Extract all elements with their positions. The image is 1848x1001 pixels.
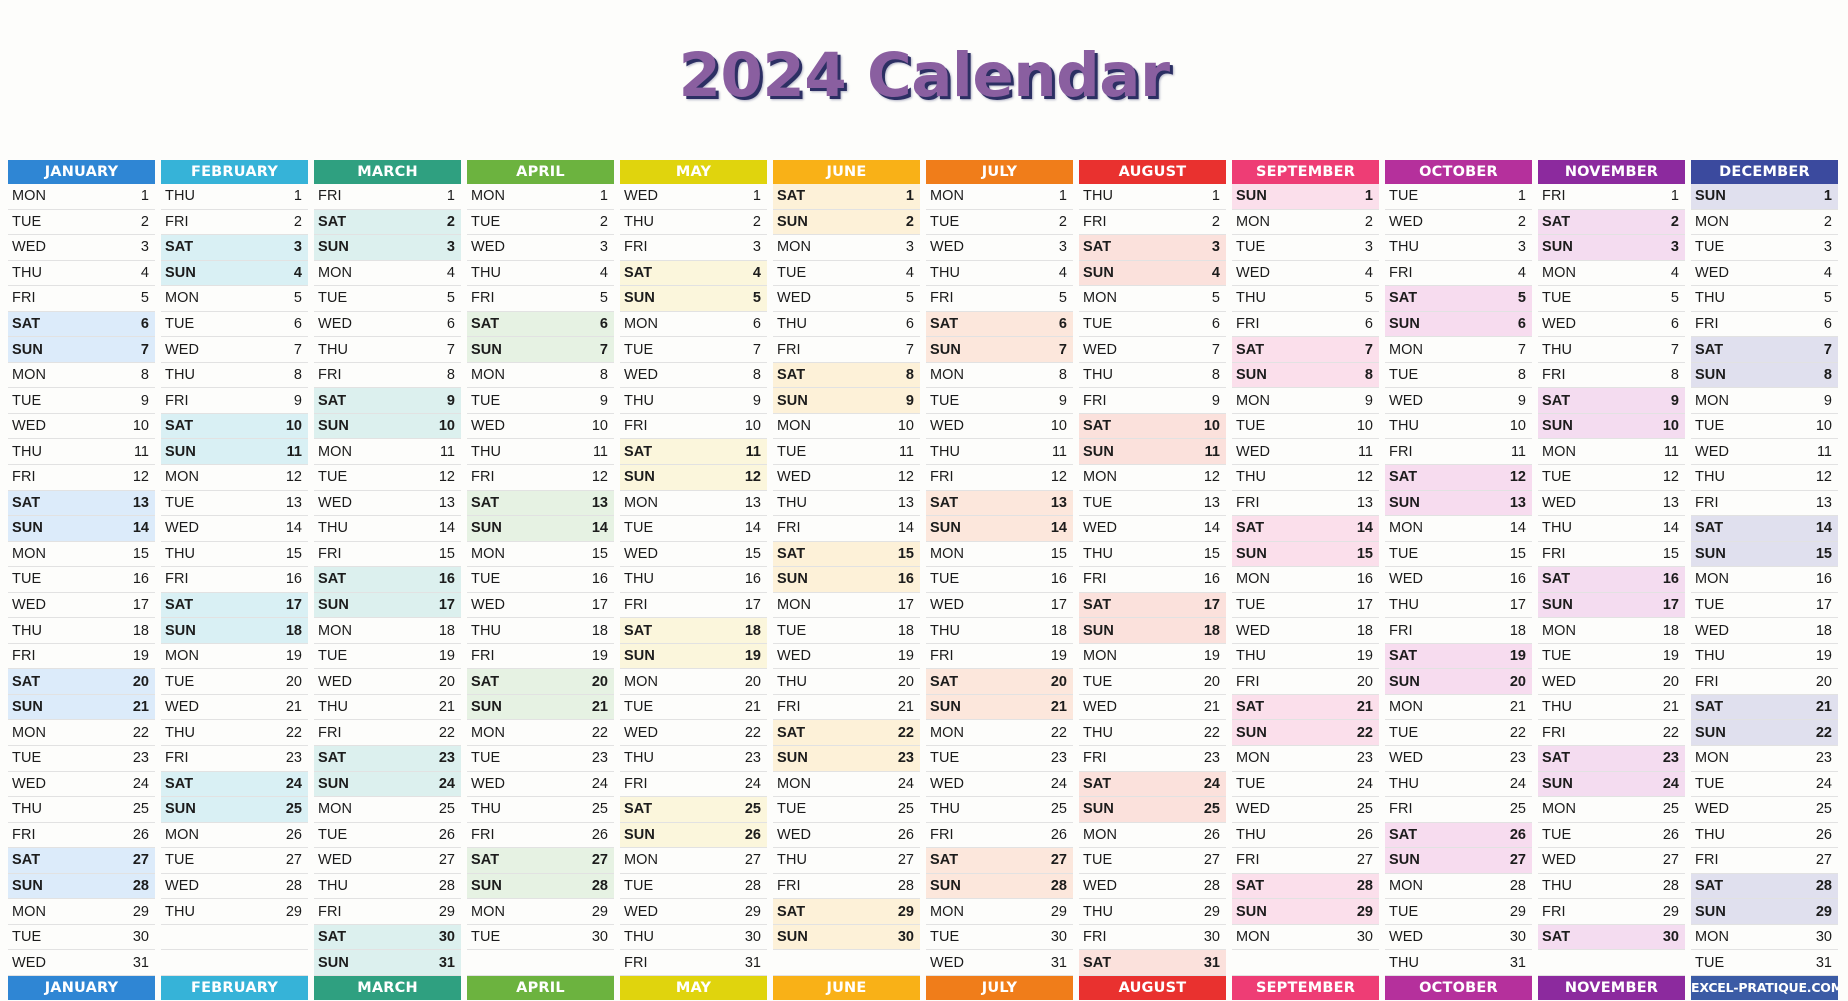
day-cell[interactable]: SUN28 [926, 874, 1073, 900]
day-cell[interactable]: SAT27 [926, 848, 1073, 874]
day-cell[interactable]: FRI15 [314, 542, 461, 568]
day-cell[interactable]: MON16 [1232, 567, 1379, 593]
day-cell[interactable]: FRI23 [161, 746, 308, 772]
month-footer-january[interactable]: JANUARY [8, 976, 155, 1000]
day-cell[interactable]: THU16 [620, 567, 767, 593]
day-cell[interactable]: SUN22 [1691, 720, 1838, 746]
day-cell[interactable]: SUN2 [773, 210, 920, 236]
day-cell[interactable]: SAT24 [161, 772, 308, 798]
day-cell[interactable]: FRI9 [1079, 388, 1226, 414]
day-cell[interactable]: WED24 [926, 772, 1073, 798]
day-cell[interactable]: TUE3 [1691, 235, 1838, 261]
day-cell[interactable]: TUE13 [1079, 491, 1226, 517]
day-cell[interactable]: FRI27 [1232, 848, 1379, 874]
day-cell[interactable]: WED26 [773, 823, 920, 849]
day-cell[interactable]: THU29 [1079, 899, 1226, 925]
day-cell[interactable]: MON28 [1385, 874, 1532, 900]
day-cell[interactable]: THU11 [926, 439, 1073, 465]
day-cell[interactable]: MON22 [926, 720, 1073, 746]
day-cell[interactable]: WED20 [1538, 669, 1685, 695]
day-cell[interactable]: WED5 [773, 286, 920, 312]
day-cell[interactable]: FRI8 [1538, 363, 1685, 389]
day-cell[interactable]: WED1 [620, 184, 767, 210]
day-cell[interactable]: THU28 [1538, 874, 1685, 900]
day-cell[interactable]: MON14 [1385, 516, 1532, 542]
day-cell[interactable]: WED25 [1691, 797, 1838, 823]
day-cell[interactable]: THU14 [1538, 516, 1685, 542]
day-cell[interactable]: MON30 [1691, 925, 1838, 951]
day-cell[interactable]: SUN22 [1232, 720, 1379, 746]
day-cell[interactable]: FRI21 [773, 695, 920, 721]
day-cell[interactable]: MON25 [314, 797, 461, 823]
month-footer-july[interactable]: JULY [926, 976, 1073, 1000]
day-cell[interactable]: THU18 [926, 618, 1073, 644]
day-cell[interactable]: TUE23 [926, 746, 1073, 772]
day-cell[interactable]: WED6 [314, 312, 461, 338]
day-cell[interactable]: FRI27 [1691, 848, 1838, 874]
day-cell[interactable]: SAT16 [314, 567, 461, 593]
day-cell[interactable]: FRI14 [773, 516, 920, 542]
day-cell[interactable]: WED28 [161, 874, 308, 900]
day-cell[interactable]: SAT11 [620, 439, 767, 465]
day-cell[interactable]: TUE18 [773, 618, 920, 644]
day-cell[interactable]: THU15 [161, 542, 308, 568]
day-cell[interactable]: SUN6 [1385, 312, 1532, 338]
day-cell[interactable]: SUN29 [1691, 899, 1838, 925]
day-cell[interactable]: THU30 [620, 925, 767, 951]
month-header-march[interactable]: MARCH [314, 160, 461, 184]
day-cell[interactable]: SUN3 [1538, 235, 1685, 261]
day-cell[interactable]: SAT7 [1691, 337, 1838, 363]
day-cell[interactable]: SAT22 [773, 720, 920, 746]
day-cell[interactable]: SAT31 [1079, 950, 1226, 976]
day-cell[interactable]: MON17 [773, 593, 920, 619]
day-cell[interactable]: SUN7 [926, 337, 1073, 363]
day-cell[interactable]: FRI11 [1385, 439, 1532, 465]
day-cell[interactable]: SAT18 [620, 618, 767, 644]
day-cell[interactable]: WED17 [467, 593, 614, 619]
day-cell[interactable]: WED4 [1232, 261, 1379, 287]
day-cell[interactable]: WED7 [1079, 337, 1226, 363]
day-cell[interactable]: SUN1 [1232, 184, 1379, 210]
day-cell[interactable]: SAT13 [467, 491, 614, 517]
day-cell[interactable]: WED23 [1385, 746, 1532, 772]
day-cell[interactable]: MON8 [467, 363, 614, 389]
day-cell[interactable]: THU3 [1385, 235, 1532, 261]
day-cell[interactable]: WED22 [620, 720, 767, 746]
day-cell[interactable]: WED18 [1691, 618, 1838, 644]
day-cell[interactable]: FRI28 [773, 874, 920, 900]
month-footer-may[interactable]: MAY [620, 976, 767, 1000]
day-cell[interactable]: TUE1 [1385, 184, 1532, 210]
day-cell[interactable]: THU15 [1079, 542, 1226, 568]
day-cell[interactable]: THU2 [620, 210, 767, 236]
day-cell[interactable]: FRI1 [1538, 184, 1685, 210]
day-cell[interactable]: WED17 [926, 593, 1073, 619]
day-cell[interactable]: THU20 [773, 669, 920, 695]
day-cell[interactable]: WED3 [467, 235, 614, 261]
day-cell[interactable]: SAT23 [1538, 746, 1685, 772]
day-cell[interactable]: WED10 [8, 414, 155, 440]
day-cell[interactable]: SUN3 [314, 235, 461, 261]
day-cell[interactable]: THU25 [8, 797, 155, 823]
day-cell[interactable]: SUN1 [1691, 184, 1838, 210]
day-cell[interactable]: WED3 [926, 235, 1073, 261]
day-cell[interactable]: WED21 [161, 695, 308, 721]
day-cell[interactable]: MON8 [8, 363, 155, 389]
day-cell[interactable]: SAT2 [314, 210, 461, 236]
day-cell[interactable]: SAT6 [467, 312, 614, 338]
day-cell[interactable]: TUE27 [161, 848, 308, 874]
day-cell[interactable]: FRI26 [926, 823, 1073, 849]
day-cell[interactable]: MON27 [620, 848, 767, 874]
day-cell[interactable]: FRI16 [1079, 567, 1226, 593]
day-cell[interactable]: MON4 [314, 261, 461, 287]
day-cell[interactable]: SAT16 [1538, 567, 1685, 593]
day-cell[interactable]: SUN27 [1385, 848, 1532, 874]
day-cell[interactable]: SAT24 [1079, 772, 1226, 798]
day-cell[interactable]: SUN17 [1538, 593, 1685, 619]
day-cell[interactable]: SUN18 [1079, 618, 1226, 644]
day-cell[interactable]: TUE10 [1232, 414, 1379, 440]
day-cell[interactable]: SAT25 [620, 797, 767, 823]
day-cell[interactable]: THU5 [1691, 286, 1838, 312]
month-footer-june[interactable]: JUNE [773, 976, 920, 1000]
day-cell[interactable]: FRI29 [1538, 899, 1685, 925]
day-cell[interactable]: SUN12 [620, 465, 767, 491]
month-header-february[interactable]: FEBRUARY [161, 160, 308, 184]
day-cell[interactable]: THU11 [467, 439, 614, 465]
day-cell[interactable]: SUN31 [314, 950, 461, 976]
day-cell[interactable]: SUN17 [314, 593, 461, 619]
day-cell[interactable]: FRI17 [620, 593, 767, 619]
day-cell[interactable]: FRI26 [467, 823, 614, 849]
day-cell[interactable]: THU8 [1079, 363, 1226, 389]
day-cell[interactable]: FRI10 [620, 414, 767, 440]
day-cell[interactable]: MON4 [1538, 261, 1685, 287]
day-cell[interactable]: WED21 [1079, 695, 1226, 721]
day-cell[interactable]: THU5 [1232, 286, 1379, 312]
day-cell[interactable]: MON1 [8, 184, 155, 210]
month-footer-november[interactable]: NOVEMBER [1538, 976, 1685, 1000]
day-cell[interactable]: FRI5 [8, 286, 155, 312]
day-cell[interactable]: SAT26 [1385, 823, 1532, 849]
day-cell[interactable]: THU17 [1385, 593, 1532, 619]
day-cell[interactable]: FRI19 [8, 644, 155, 670]
day-cell[interactable]: FRI12 [8, 465, 155, 491]
day-cell[interactable]: THU19 [1232, 644, 1379, 670]
day-cell[interactable]: SAT20 [8, 669, 155, 695]
day-cell[interactable]: WED16 [1385, 567, 1532, 593]
day-cell[interactable]: TUE16 [8, 567, 155, 593]
day-cell[interactable]: MON13 [620, 491, 767, 517]
day-cell[interactable]: THU8 [161, 363, 308, 389]
month-header-june[interactable]: JUNE [773, 160, 920, 184]
day-cell[interactable]: WED6 [1538, 312, 1685, 338]
day-cell[interactable]: SAT17 [1079, 593, 1226, 619]
day-cell[interactable]: SUN15 [1232, 542, 1379, 568]
day-cell[interactable]: TUE3 [1232, 235, 1379, 261]
month-header-april[interactable]: APRIL [467, 160, 614, 184]
day-cell[interactable]: TUE5 [1538, 286, 1685, 312]
day-cell[interactable]: TUE30 [926, 925, 1073, 951]
day-cell[interactable]: SAT15 [773, 542, 920, 568]
day-cell[interactable]: FRI9 [161, 388, 308, 414]
day-cell[interactable]: SAT20 [926, 669, 1073, 695]
day-cell[interactable]: TUE9 [926, 388, 1073, 414]
month-footer-september[interactable]: SEPTEMBER [1232, 976, 1379, 1000]
day-cell[interactable]: FRI3 [620, 235, 767, 261]
day-cell[interactable]: WED15 [620, 542, 767, 568]
day-cell[interactable]: THU25 [926, 797, 1073, 823]
day-cell[interactable]: SUN5 [620, 286, 767, 312]
day-cell[interactable]: TUE9 [467, 388, 614, 414]
day-cell[interactable]: TUE25 [773, 797, 920, 823]
day-cell[interactable]: TUE24 [1232, 772, 1379, 798]
month-footer-august[interactable]: AUGUST [1079, 976, 1226, 1000]
day-cell[interactable]: TUE21 [620, 695, 767, 721]
day-cell[interactable]: FRI26 [8, 823, 155, 849]
day-cell[interactable]: MON29 [467, 899, 614, 925]
day-cell[interactable]: SAT14 [1232, 516, 1379, 542]
day-cell[interactable]: SUN25 [1079, 797, 1226, 823]
day-cell[interactable]: FRI12 [926, 465, 1073, 491]
day-cell[interactable]: SUN11 [1079, 439, 1226, 465]
month-header-august[interactable]: AUGUST [1079, 160, 1226, 184]
day-cell[interactable]: SUN16 [773, 567, 920, 593]
day-cell[interactable]: SUN28 [8, 874, 155, 900]
day-cell[interactable]: SAT9 [314, 388, 461, 414]
day-cell[interactable]: WED27 [1538, 848, 1685, 874]
day-cell[interactable]: WED2 [1385, 210, 1532, 236]
day-cell[interactable]: THU18 [467, 618, 614, 644]
day-cell[interactable]: SAT6 [926, 312, 1073, 338]
day-cell[interactable]: SAT6 [8, 312, 155, 338]
month-header-september[interactable]: SEPTEMBER [1232, 160, 1379, 184]
day-cell[interactable]: WED19 [773, 644, 920, 670]
day-cell[interactable]: SAT3 [161, 235, 308, 261]
day-cell[interactable]: THU10 [1385, 414, 1532, 440]
day-cell[interactable]: WED28 [1079, 874, 1226, 900]
day-cell[interactable]: MON11 [1538, 439, 1685, 465]
day-cell[interactable]: TUE17 [1691, 593, 1838, 619]
month-header-july[interactable]: JULY [926, 160, 1073, 184]
day-cell[interactable]: WED13 [314, 491, 461, 517]
day-cell[interactable]: MON23 [1691, 746, 1838, 772]
day-cell[interactable]: WED13 [1538, 491, 1685, 517]
day-cell[interactable]: SAT21 [1232, 695, 1379, 721]
day-cell[interactable]: FRI18 [1385, 618, 1532, 644]
day-cell[interactable]: THU1 [161, 184, 308, 210]
day-cell[interactable]: SAT4 [620, 261, 767, 287]
day-cell[interactable]: MON5 [161, 286, 308, 312]
day-cell[interactable]: SUN7 [467, 337, 614, 363]
day-cell[interactable]: MON6 [620, 312, 767, 338]
month-footer-april[interactable]: APRIL [467, 976, 614, 1000]
day-cell[interactable]: FRI24 [620, 772, 767, 798]
day-cell[interactable]: MON12 [1079, 465, 1226, 491]
day-cell[interactable]: FRI13 [1691, 491, 1838, 517]
day-cell[interactable]: WED4 [1691, 261, 1838, 287]
day-cell[interactable]: SUN28 [467, 874, 614, 900]
day-cell[interactable]: TUE2 [467, 210, 614, 236]
day-cell[interactable]: FRI6 [1232, 312, 1379, 338]
day-cell[interactable]: SAT10 [161, 414, 308, 440]
day-cell[interactable]: THU22 [161, 720, 308, 746]
day-cell[interactable]: MON22 [8, 720, 155, 746]
day-cell[interactable]: WED31 [8, 950, 155, 976]
day-cell[interactable]: TUE19 [1538, 644, 1685, 670]
day-cell[interactable]: MON10 [773, 414, 920, 440]
day-cell[interactable]: MON20 [620, 669, 767, 695]
day-cell[interactable]: MON3 [773, 235, 920, 261]
day-cell[interactable]: THU28 [314, 874, 461, 900]
day-cell[interactable]: TUE10 [1691, 414, 1838, 440]
day-cell[interactable]: SUN9 [773, 388, 920, 414]
day-cell[interactable]: SUN8 [1232, 363, 1379, 389]
day-cell[interactable]: THU4 [926, 261, 1073, 287]
day-cell[interactable]: FRI2 [1079, 210, 1226, 236]
day-cell[interactable]: TUE27 [1079, 848, 1226, 874]
day-cell[interactable]: TUE22 [1385, 720, 1532, 746]
day-cell[interactable]: TUE20 [1079, 669, 1226, 695]
month-footer-february[interactable]: FEBRUARY [161, 976, 308, 1000]
day-cell[interactable]: TUE30 [467, 925, 614, 951]
day-cell[interactable]: FRI19 [926, 644, 1073, 670]
day-cell[interactable]: TUE29 [1385, 899, 1532, 925]
day-cell[interactable]: FRI4 [1385, 261, 1532, 287]
day-cell[interactable]: WED11 [1691, 439, 1838, 465]
day-cell[interactable]: TUE9 [8, 388, 155, 414]
day-cell[interactable]: FRI2 [161, 210, 308, 236]
day-cell[interactable]: SUN21 [8, 695, 155, 721]
day-cell[interactable]: MON26 [1079, 823, 1226, 849]
day-cell[interactable]: TUE7 [620, 337, 767, 363]
day-cell[interactable]: MON25 [1538, 797, 1685, 823]
day-cell[interactable]: THU4 [8, 261, 155, 287]
day-cell[interactable]: SUN4 [1079, 261, 1226, 287]
day-cell[interactable]: SUN10 [1538, 414, 1685, 440]
day-cell[interactable]: SAT28 [1691, 874, 1838, 900]
day-cell[interactable]: TUE26 [314, 823, 461, 849]
day-cell[interactable]: THU21 [1538, 695, 1685, 721]
day-cell[interactable]: WED14 [1079, 516, 1226, 542]
day-cell[interactable]: FRI20 [1691, 669, 1838, 695]
day-cell[interactable]: TUE15 [1385, 542, 1532, 568]
day-cell[interactable]: MON22 [467, 720, 614, 746]
day-cell[interactable]: SUN29 [1232, 899, 1379, 925]
day-cell[interactable]: SUN23 [773, 746, 920, 772]
day-cell[interactable]: SAT28 [1232, 874, 1379, 900]
day-cell[interactable]: TUE26 [1538, 823, 1685, 849]
day-cell[interactable]: SAT17 [161, 593, 308, 619]
month-footer-october[interactable]: OCTOBER [1385, 976, 1532, 1000]
day-cell[interactable]: THU14 [314, 516, 461, 542]
day-cell[interactable]: MON5 [1079, 286, 1226, 312]
day-cell[interactable]: THU12 [1691, 465, 1838, 491]
day-cell[interactable]: WED20 [314, 669, 461, 695]
day-cell[interactable]: MON24 [773, 772, 920, 798]
day-cell[interactable]: FRI1 [314, 184, 461, 210]
day-cell[interactable]: FRI29 [314, 899, 461, 925]
day-cell[interactable]: SUN10 [314, 414, 461, 440]
day-cell[interactable]: SAT13 [926, 491, 1073, 517]
day-cell[interactable]: MON2 [1691, 210, 1838, 236]
day-cell[interactable]: FRI8 [314, 363, 461, 389]
day-cell[interactable]: WED24 [8, 772, 155, 798]
day-cell[interactable]: WED25 [1232, 797, 1379, 823]
day-cell[interactable]: THU23 [620, 746, 767, 772]
day-cell[interactable]: THU7 [314, 337, 461, 363]
day-cell[interactable]: MON29 [8, 899, 155, 925]
day-cell[interactable]: SUN4 [161, 261, 308, 287]
day-cell[interactable]: THU26 [1691, 823, 1838, 849]
day-cell[interactable]: TUE23 [8, 746, 155, 772]
day-cell[interactable]: TUE4 [773, 261, 920, 287]
day-cell[interactable]: THU29 [161, 899, 308, 925]
day-cell[interactable]: MON19 [161, 644, 308, 670]
day-cell[interactable]: FRI22 [314, 720, 461, 746]
day-cell[interactable]: MON15 [926, 542, 1073, 568]
day-cell[interactable]: FRI12 [467, 465, 614, 491]
day-cell[interactable]: FRI5 [926, 286, 1073, 312]
day-cell[interactable]: TUE12 [314, 465, 461, 491]
day-cell[interactable]: MON23 [1232, 746, 1379, 772]
day-cell[interactable]: FRI25 [1385, 797, 1532, 823]
day-cell[interactable]: WED11 [1232, 439, 1379, 465]
day-cell[interactable]: TUE6 [161, 312, 308, 338]
day-cell[interactable]: TUE5 [314, 286, 461, 312]
day-cell[interactable]: THU27 [773, 848, 920, 874]
day-cell[interactable]: MON9 [1232, 388, 1379, 414]
day-cell[interactable]: WED30 [1385, 925, 1532, 951]
month-header-october[interactable]: OCTOBER [1385, 160, 1532, 184]
day-cell[interactable]: SAT8 [773, 363, 920, 389]
day-cell[interactable]: FRI20 [1232, 669, 1379, 695]
day-cell[interactable]: TUE13 [161, 491, 308, 517]
day-cell[interactable]: SAT30 [314, 925, 461, 951]
day-cell[interactable]: MON7 [1385, 337, 1532, 363]
day-cell[interactable]: THU26 [1232, 823, 1379, 849]
day-cell[interactable]: TUE24 [1691, 772, 1838, 798]
day-cell[interactable]: SUN14 [467, 516, 614, 542]
day-cell[interactable]: MON9 [1691, 388, 1838, 414]
day-cell[interactable]: TUE2 [8, 210, 155, 236]
day-cell[interactable]: SAT29 [773, 899, 920, 925]
day-cell[interactable]: THU7 [1538, 337, 1685, 363]
day-cell[interactable]: THU11 [8, 439, 155, 465]
day-cell[interactable]: SUN11 [161, 439, 308, 465]
month-header-december[interactable]: DECEMBER [1691, 160, 1838, 184]
day-cell[interactable]: THU25 [467, 797, 614, 823]
day-cell[interactable]: MON26 [161, 823, 308, 849]
day-cell[interactable]: SAT14 [1691, 516, 1838, 542]
day-cell[interactable]: THU24 [1385, 772, 1532, 798]
day-cell[interactable]: SUN19 [620, 644, 767, 670]
day-cell[interactable]: SAT19 [1385, 644, 1532, 670]
day-cell[interactable]: THU9 [620, 388, 767, 414]
day-cell[interactable]: MON29 [926, 899, 1073, 925]
day-cell[interactable]: WED29 [620, 899, 767, 925]
day-cell[interactable]: TUE6 [1079, 312, 1226, 338]
day-cell[interactable]: WED17 [8, 593, 155, 619]
day-cell[interactable]: MON1 [467, 184, 614, 210]
month-footer-march[interactable]: MARCH [314, 976, 461, 1000]
day-cell[interactable]: TUE19 [314, 644, 461, 670]
day-cell[interactable]: FRI13 [1232, 491, 1379, 517]
day-cell[interactable]: SUN8 [1691, 363, 1838, 389]
day-cell[interactable]: THU22 [1079, 720, 1226, 746]
